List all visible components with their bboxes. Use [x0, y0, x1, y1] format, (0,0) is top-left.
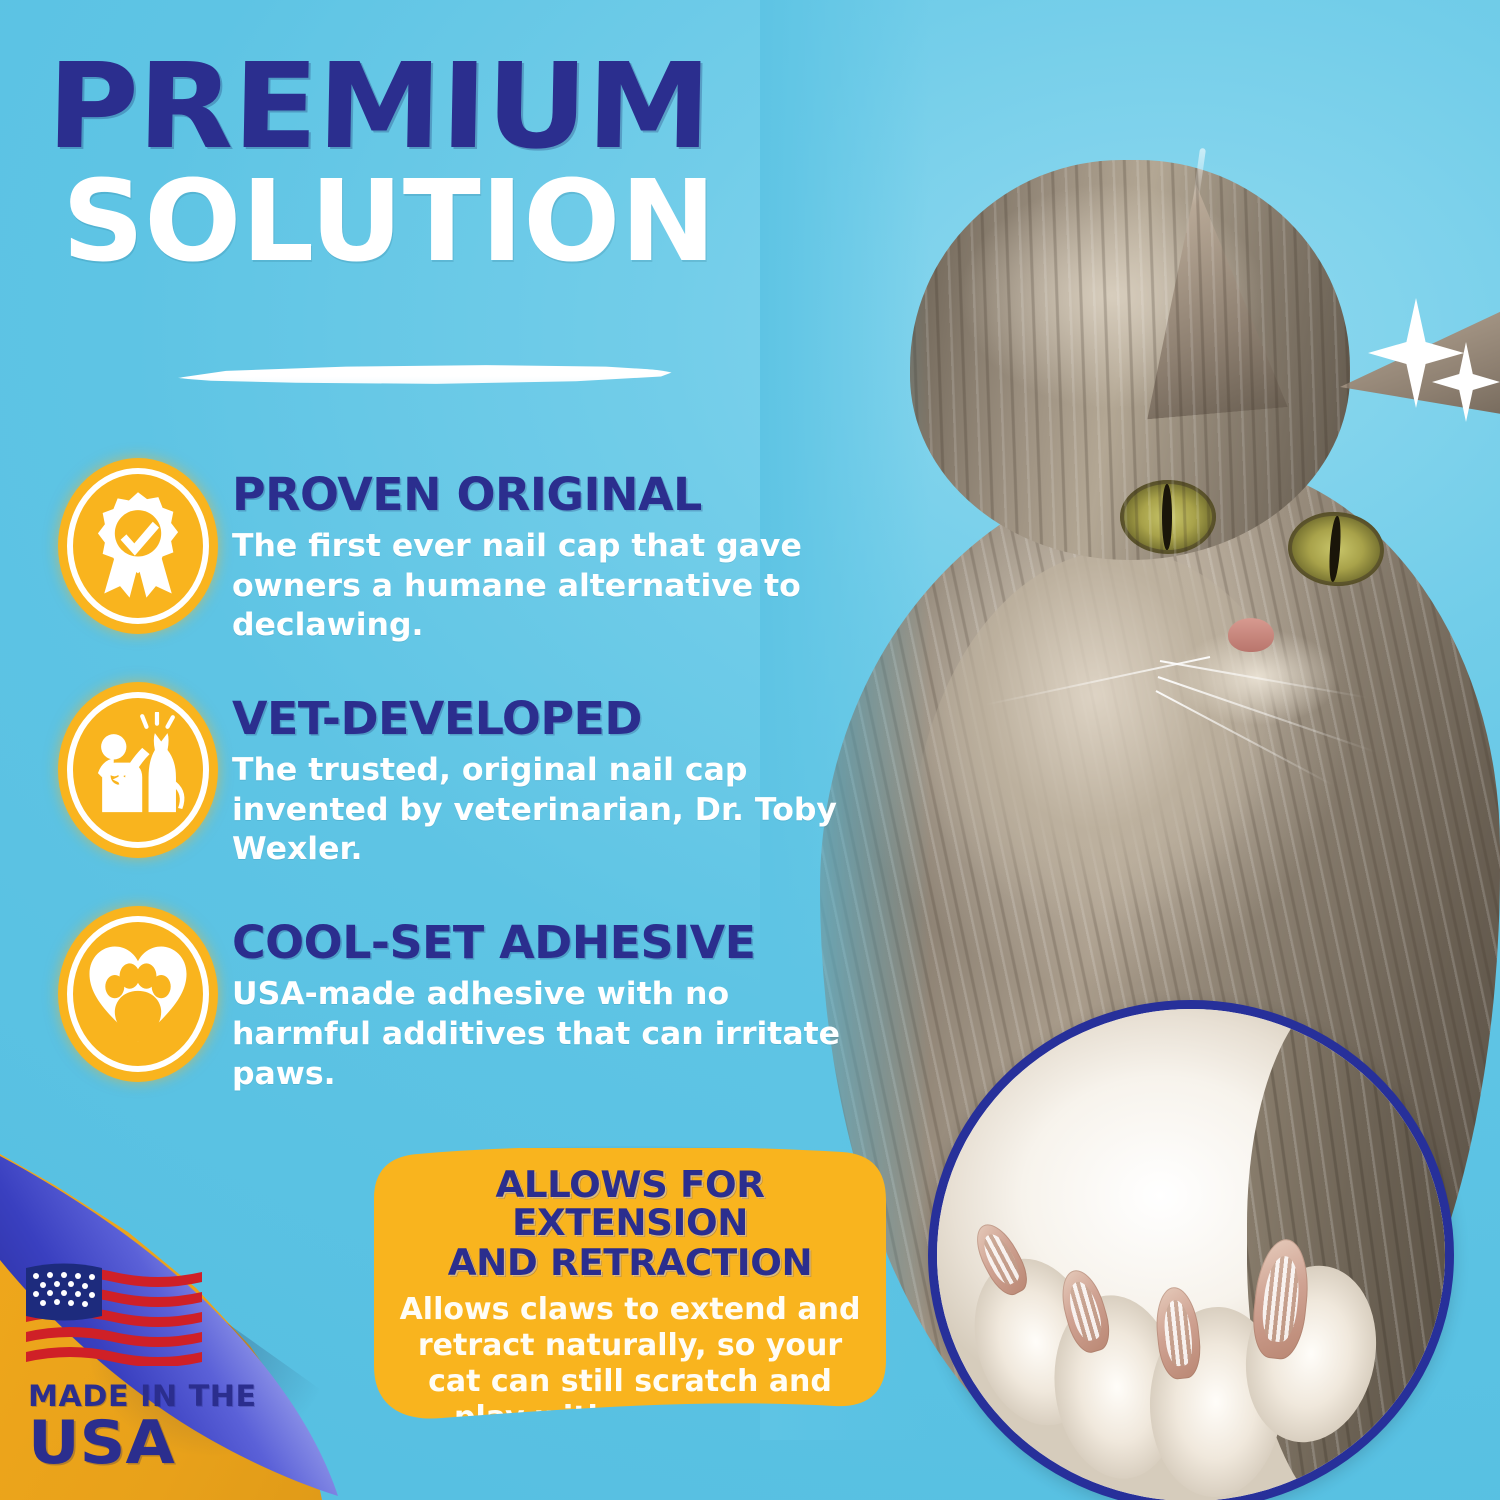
cat-nose	[1228, 618, 1274, 652]
headline-solution: SOLUTION	[62, 171, 884, 274]
callout-title-line1: ALLOWS FOR EXTENSION	[387, 1166, 873, 1242]
paw-photo	[935, 1007, 1447, 1500]
feature-body: USA-made adhesive with no harmful additi…	[232, 975, 842, 1094]
feature-item: PROVEN ORIGINAL The first ever nail cap …	[58, 458, 878, 646]
cat-head	[910, 160, 1350, 560]
feature-text: COOL-SET ADHESIVE USA-made adhesive with…	[232, 906, 878, 1094]
cat-eye-left	[1120, 480, 1216, 554]
feature-body: The trusted, original nail cap invented …	[232, 751, 842, 870]
extension-retraction-callout: ALLOWS FOR EXTENSION AND RETRACTION Allo…	[372, 1148, 888, 1430]
cat-ear-left	[1118, 178, 1287, 420]
feature-text: PROVEN ORIGINAL The first ever nail cap …	[232, 458, 878, 646]
feature-list: PROVEN ORIGINAL The first ever nail cap …	[58, 458, 878, 1130]
cat-paw-closeup-inset	[928, 1000, 1454, 1500]
headline-premium: PREMIUM	[46, 52, 917, 161]
usa-flag-glyph	[26, 1262, 202, 1366]
vet-highfive-cat-glyph	[84, 712, 192, 828]
product-infographic: PREMIUM SOLUTION PROVEN ORIGINAL The fir…	[0, 0, 1500, 1500]
feature-title: COOL-SET ADHESIVE	[232, 920, 891, 965]
headline-block: PREMIUM SOLUTION	[48, 52, 868, 274]
usa-label-line1: MADE IN THE	[28, 1382, 286, 1411]
usa-flag-icon	[26, 1262, 202, 1366]
usa-label-line2: USA	[28, 1413, 291, 1473]
heart-paw-icon	[58, 906, 218, 1082]
feature-title: VET-DEVELOPED	[232, 696, 891, 741]
callout-title-line2: AND RETRACTION	[387, 1244, 873, 1282]
made-in-usa-badge: MADE IN THE USA	[26, 1262, 276, 1473]
heart-paw-glyph	[84, 936, 192, 1052]
feature-text: VET-DEVELOPED The trusted, original nail…	[232, 682, 878, 870]
award-ribbon-glyph	[84, 488, 192, 604]
cat-ear-tuft	[1192, 148, 1206, 206]
feature-item: COOL-SET ADHESIVE USA-made adhesive with…	[58, 906, 878, 1094]
feature-body: The first ever nail cap that gave owners…	[232, 527, 842, 646]
feature-item: VET-DEVELOPED The trusted, original nail…	[58, 682, 878, 870]
vet-highfive-cat-icon	[58, 682, 218, 858]
award-ribbon-icon	[58, 458, 218, 634]
feature-title: PROVEN ORIGINAL	[232, 472, 891, 517]
